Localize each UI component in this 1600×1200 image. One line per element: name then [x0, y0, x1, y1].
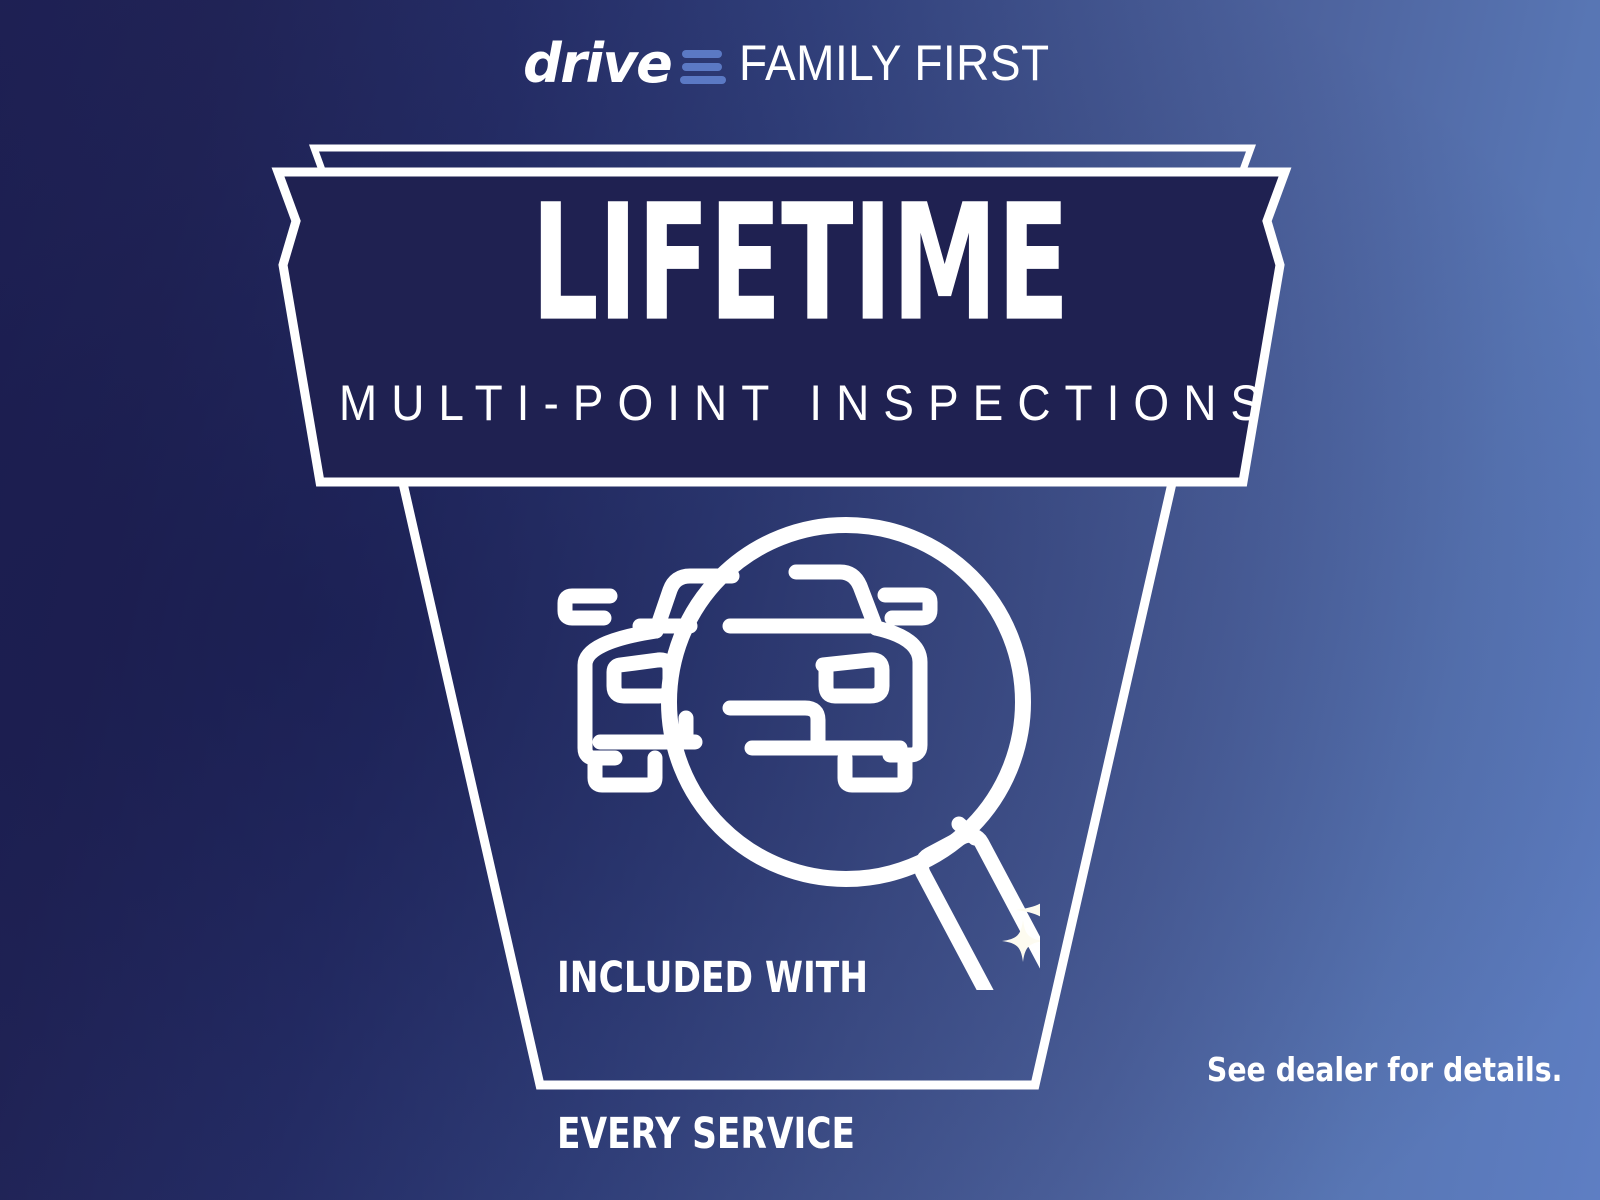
three-bars-icon	[680, 50, 726, 84]
brand-wordmark: drive	[523, 37, 671, 91]
callout-text: INCLUDED WITH EVERY SERVICE	[557, 848, 868, 1200]
callout-line-1: INCLUDED WITH	[557, 952, 868, 1004]
car-right-mirror	[885, 595, 930, 618]
promo-graphic: drive FAMILY FIRST LIFETIME MULTI-POINT …	[0, 0, 1600, 1200]
magnifier-handle	[917, 824, 1040, 990]
brand-lockup: drive FAMILY FIRST	[0, 28, 1600, 98]
callout-line-2: EVERY SERVICE	[557, 1108, 868, 1160]
disclaimer-text: See dealer for details.	[1206, 1053, 1562, 1086]
car-front-magnified	[730, 572, 920, 785]
car-front-outline	[565, 576, 732, 785]
brand-tagline: FAMILY FIRST	[739, 38, 1050, 88]
